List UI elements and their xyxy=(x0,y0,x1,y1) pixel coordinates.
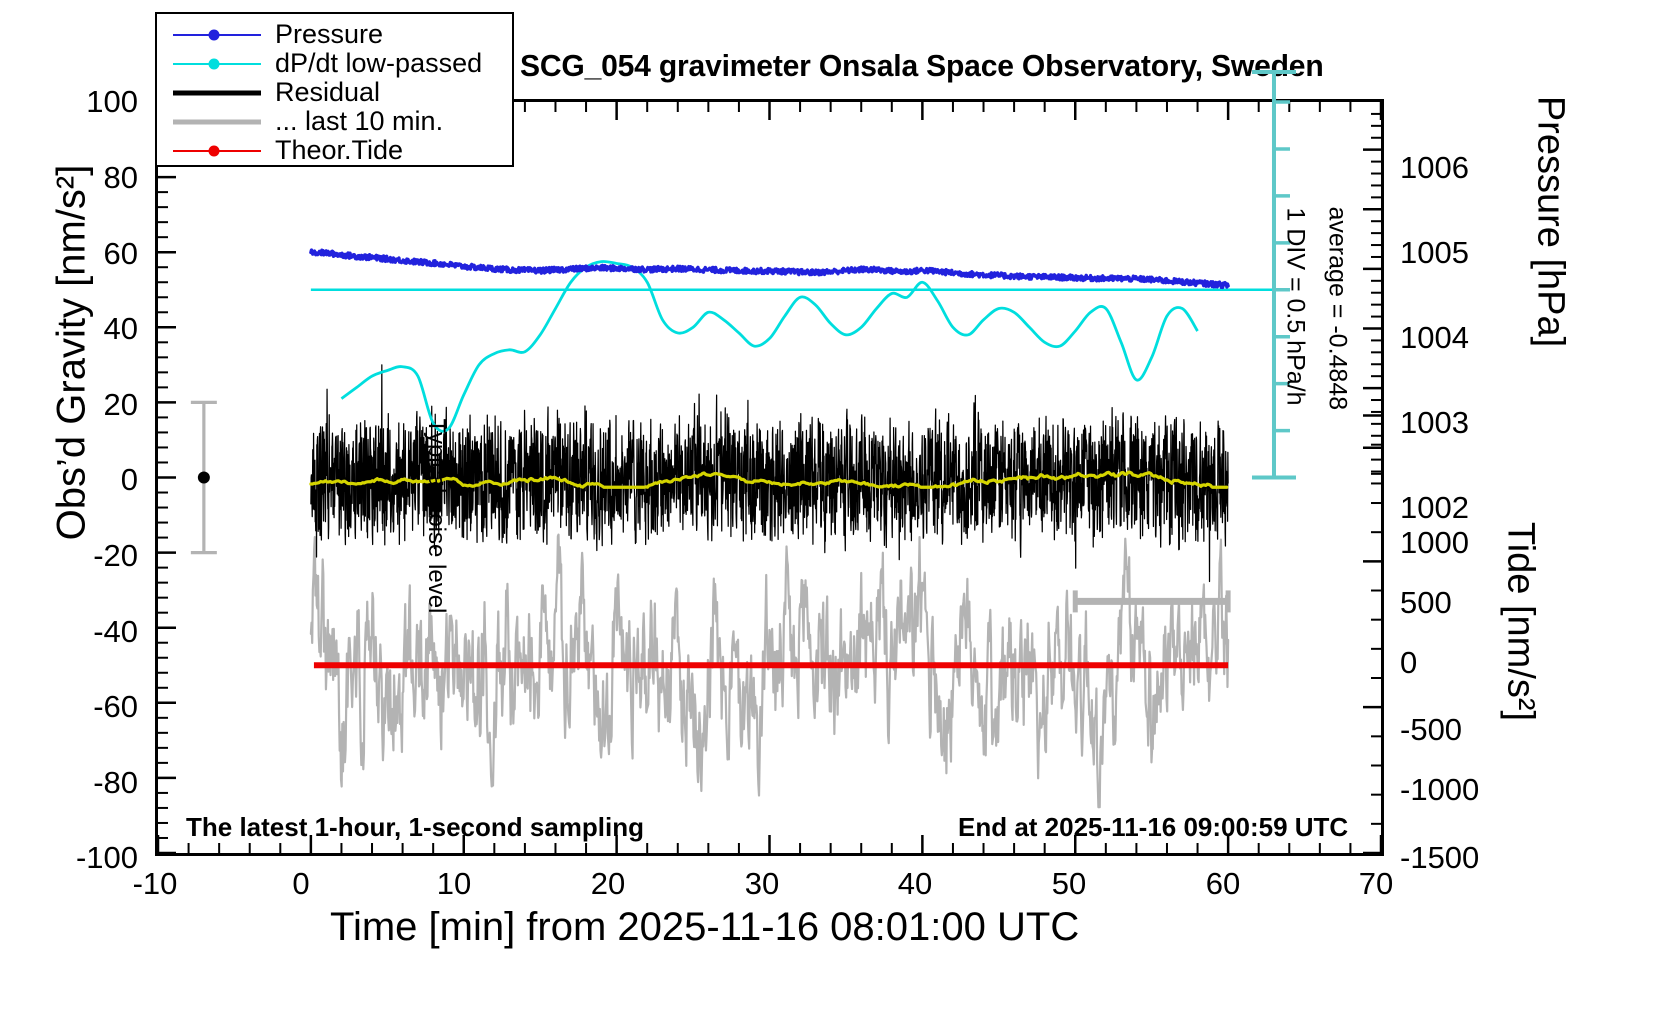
y-tick-pressure-1006: 1006 xyxy=(1400,150,1540,186)
series-pressure xyxy=(311,250,1228,287)
y-tick-tide-1000: 1000 xyxy=(1400,525,1540,561)
plot-area: The latest 1-hour, 1-second sampling End… xyxy=(155,99,1384,856)
legend-swatch-theortide xyxy=(173,141,261,161)
y-tick-pressure-1005: 1005 xyxy=(1400,235,1540,271)
legend-item-dpdt[interactable]: dP/dt low-passed xyxy=(157,49,512,78)
y-tick-left-20: 20 xyxy=(28,387,138,423)
legend-label-theortide: Theor.Tide xyxy=(275,135,403,166)
x-tick-0: 0 xyxy=(241,866,361,902)
page-title: SCG_054 gravimeter Onsala Space Observat… xyxy=(520,48,1324,84)
legend-swatch-last10 xyxy=(173,112,261,132)
x-tick-10: 10 xyxy=(394,866,514,902)
legend: Pressure dP/dt low-passed Residual ... l… xyxy=(155,12,514,167)
y-tick-tide-0: 0 xyxy=(1400,645,1540,681)
y-tick-left-80: 80 xyxy=(28,160,138,196)
plot-canvas xyxy=(158,102,1381,853)
noise-level-label: Typical noise level xyxy=(422,416,450,616)
footer-note-left: The latest 1-hour, 1-second sampling xyxy=(186,812,644,843)
x-tick-70: 70 xyxy=(1316,866,1436,902)
y-tick-tide-neg500: -500 xyxy=(1400,712,1540,748)
legend-dot xyxy=(209,145,220,156)
legend-dot xyxy=(209,29,220,40)
y-tick-left-100: 100 xyxy=(28,84,138,120)
legend-label-last10: ... last 10 min. xyxy=(275,106,443,137)
x-axis-label: Time [min] from 2025-11-16 08:01:00 UTC xyxy=(330,905,1079,950)
y-tick-left-neg40: -40 xyxy=(28,614,138,650)
y-tick-left-60: 60 xyxy=(28,236,138,272)
x-tick-30: 30 xyxy=(702,866,822,902)
x-tick-20: 20 xyxy=(548,866,668,902)
legend-swatch-pressure xyxy=(173,25,261,45)
x-tick-neg10: -10 xyxy=(95,866,215,902)
y-tick-left-neg80: -80 xyxy=(28,765,138,801)
footer-note-right: End at 2025-11-16 09:00:59 UTC xyxy=(958,812,1348,843)
y-tick-tide-500: 500 xyxy=(1400,585,1540,621)
legend-label-pressure: Pressure xyxy=(275,19,383,50)
noise-bar-center-dot xyxy=(198,472,210,484)
scale-division-note: 1 DIV = 0.5 hPa/h xyxy=(1281,207,1310,407)
y-tick-pressure-1002: 1002 xyxy=(1400,490,1540,526)
x-tick-60: 60 xyxy=(1163,866,1283,902)
legend-swatch-dpdt xyxy=(173,54,261,74)
y-tick-pressure-1003: 1003 xyxy=(1400,405,1540,441)
y-tick-pressure-1004: 1004 xyxy=(1400,320,1540,356)
legend-label-residual: Residual xyxy=(275,77,380,108)
y-tick-left-neg20: -20 xyxy=(28,538,138,574)
legend-dot xyxy=(209,58,220,69)
legend-item-pressure[interactable]: Pressure xyxy=(157,20,512,49)
x-tick-40: 40 xyxy=(855,866,975,902)
legend-swatch-residual xyxy=(173,83,261,103)
legend-item-residual[interactable]: Residual xyxy=(157,78,512,107)
legend-line xyxy=(173,90,261,95)
series-dpdt-low-passed xyxy=(341,261,1197,431)
legend-item-last10[interactable]: ... last 10 min. xyxy=(157,107,512,136)
legend-item-theortide[interactable]: Theor.Tide xyxy=(157,136,512,165)
x-tick-50: 50 xyxy=(1009,866,1129,902)
y-tick-tide-neg1000: -1000 xyxy=(1400,772,1540,808)
scale-average-note: average = -0.4848 xyxy=(1323,207,1352,407)
chart-page: SCG_054 gravimeter Onsala Space Observat… xyxy=(0,0,1660,1020)
y-tick-left-0: 0 xyxy=(28,462,138,498)
legend-label-dpdt: dP/dt low-passed xyxy=(275,48,482,79)
y-tick-left-neg60: -60 xyxy=(28,689,138,725)
legend-line xyxy=(173,119,261,124)
y-tick-left-40: 40 xyxy=(28,311,138,347)
